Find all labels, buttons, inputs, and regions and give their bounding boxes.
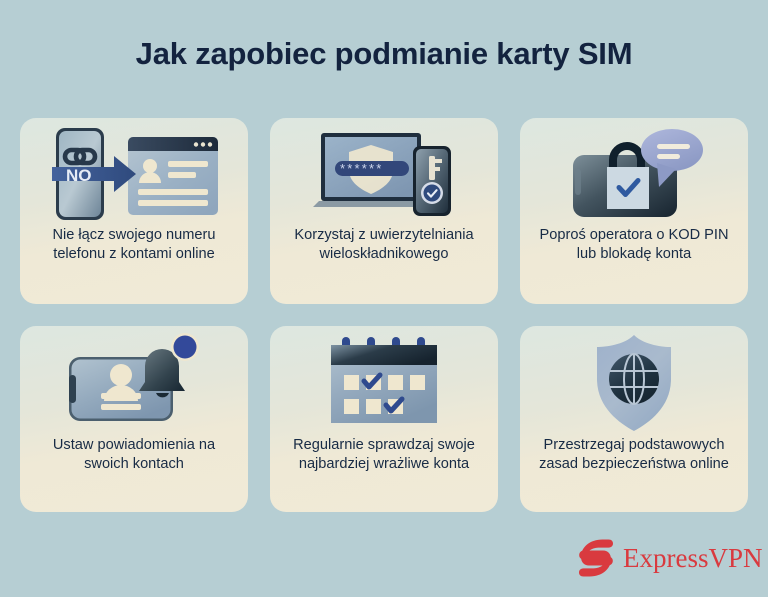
tips-grid: NO Nie łącz swojego numeru telefonu z ko…	[20, 118, 748, 512]
expressvpn-wordmark: ExpressVPN	[623, 543, 763, 574]
tip-card-label: Przestrzegaj podstawowych zasad bezpiecz…	[520, 436, 748, 474]
profile-card-bell-badge-icon	[20, 326, 248, 434]
tip-card-label: Ustaw powiadomienia na swoich kontach	[20, 436, 248, 474]
tip-card-ask-operator-for-pin-or-lock: Poproś operatora o KOD PIN lub blokadę k…	[520, 118, 748, 304]
calendar-checkmarks-icon	[270, 326, 498, 434]
page-title: Jak zapobiec podmianie karty SIM	[0, 36, 768, 72]
tip-card-label: Regularnie sprawdzaj swoje najbardziej w…	[270, 436, 498, 474]
tip-card-set-notifications-on-accounts: Ustaw powiadomienia na swoich kontach	[20, 326, 248, 512]
shield-globe-icon	[520, 326, 748, 434]
expressvpn-logo[interactable]: ExpressVPN	[578, 538, 763, 578]
tip-card-regularly-check-sensitive-accounts: Regularnie sprawdzaj swoje najbardziej w…	[270, 326, 498, 512]
password-asterisks: ******	[340, 161, 384, 176]
tip-card-label: Nie łącz swojego numeru telefonu z konta…	[20, 226, 248, 264]
tip-card-label: Poproś operatora o KOD PIN lub blokadę k…	[520, 226, 748, 264]
tip-card-label: Korzystaj z uwierzytelniania wieloskładn…	[270, 226, 498, 264]
phone-link-no-arrow-browser-icon: NO	[20, 118, 248, 226]
tip-card-use-multifactor-authentication: ****** Korzystaj z uwierzytelniania wiel…	[270, 118, 498, 304]
tip-card-no-link-phone-to-accounts: NO Nie łącz swojego numeru telefonu z ko…	[20, 118, 248, 304]
tip-card-follow-basic-online-security: Przestrzegaj podstawowych zasad bezpiecz…	[520, 326, 748, 512]
expressvpn-e-mark-icon	[578, 538, 614, 578]
padlock-check-speech-bubble-icon	[520, 118, 748, 226]
laptop-shield-password-phone-key-icon: ******	[270, 118, 498, 226]
no-arrow-label: NO	[66, 166, 92, 185]
